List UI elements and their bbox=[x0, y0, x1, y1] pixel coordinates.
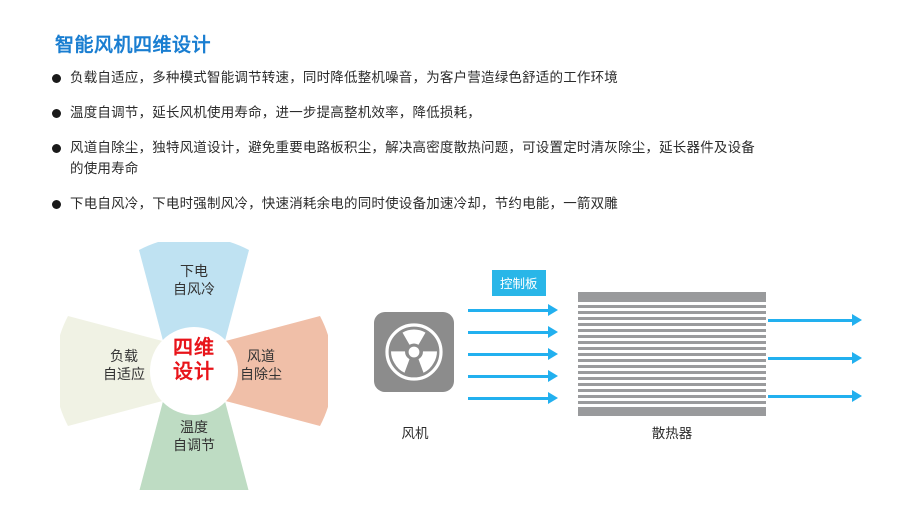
bullet-dot-icon bbox=[52, 74, 61, 83]
fan-icon bbox=[384, 322, 444, 382]
heatsink-fins bbox=[578, 299, 766, 409]
list-item: 风道自除尘，独特风道设计，避免重要电路板积尘，解决高密度散热问题，可设置定时清灰… bbox=[52, 138, 882, 180]
arrow-head-icon bbox=[852, 314, 862, 326]
list-item-line-continued: 的使用寿命 bbox=[70, 159, 755, 180]
arrow-line bbox=[468, 331, 550, 334]
list-item-line: 下电自风冷，下电时强制风冷，快速消耗余电的同时使设备加速冷却，节约电能，一箭双雕 bbox=[70, 196, 618, 211]
arrow-head-icon bbox=[548, 348, 558, 360]
arrow-head-icon bbox=[548, 326, 558, 338]
fan-label: 风机 bbox=[368, 422, 462, 442]
arrow-line bbox=[768, 395, 854, 398]
four-dimension-petal-diagram: 下电 自风冷 风道 自除尘 温度 自调节 负载 自适应 四维 设计 bbox=[60, 242, 328, 490]
list-item-line: 风道自除尘，独特风道设计，避免重要电路板积尘，解决高密度散热问题，可设置定时清灰… bbox=[70, 140, 755, 155]
list-item-text: 下电自风冷，下电时强制风冷，快速消耗余电的同时使设备加速冷却，节约电能，一箭双雕 bbox=[70, 194, 618, 215]
heatsink-block bbox=[578, 292, 766, 416]
arrow-head-icon bbox=[852, 390, 862, 402]
arrow-line bbox=[468, 353, 550, 356]
petal-svg bbox=[60, 242, 328, 490]
list-item: 下电自风冷，下电时强制风冷，快速消耗余电的同时使设备加速冷却，节约电能，一箭双雕 bbox=[52, 194, 882, 215]
list-item-text: 风道自除尘，独特风道设计，避免重要电路板积尘，解决高密度散热问题，可设置定时清灰… bbox=[70, 138, 755, 180]
arrow-head-icon bbox=[548, 370, 558, 382]
arrow-head-icon bbox=[852, 352, 862, 364]
airflow-cooling-diagram: 风机 控制板 散热器 bbox=[368, 270, 888, 470]
arrow-line bbox=[468, 375, 550, 378]
arrow-line bbox=[768, 319, 854, 322]
list-item: 温度自调节，延长风机使用寿命，进一步提高整机效率，降低损耗， bbox=[52, 103, 882, 124]
arrow-head-icon bbox=[548, 304, 558, 316]
control-board-badge: 控制板 bbox=[492, 270, 546, 296]
list-item-text: 负载自适应，多种模式智能调节转速，同时降低整机噪音，为客户营造绿色舒适的工作环境 bbox=[70, 68, 618, 89]
list-item-line: 负载自适应，多种模式智能调节转速，同时降低整机噪音，为客户营造绿色舒适的工作环境 bbox=[70, 70, 618, 85]
bullet-dot-icon bbox=[52, 200, 61, 209]
arrow-head-icon bbox=[548, 392, 558, 404]
feature-bullet-list: 负载自适应，多种模式智能调节转速，同时降低整机噪音，为客户营造绿色舒适的工作环境… bbox=[52, 68, 882, 229]
bullet-dot-icon bbox=[52, 109, 61, 118]
arrow-line bbox=[468, 397, 550, 400]
heatsink-label: 散热器 bbox=[578, 422, 766, 442]
page-title: 智能风机四维设计 bbox=[55, 30, 211, 57]
heatsink-top-cap bbox=[578, 292, 766, 299]
fan-block bbox=[374, 312, 454, 392]
list-item-text: 温度自调节，延长风机使用寿命，进一步提高整机效率，降低损耗， bbox=[70, 103, 481, 124]
arrow-line bbox=[768, 357, 854, 360]
petal-center-circle bbox=[150, 327, 238, 415]
heatsink-bottom-cap bbox=[578, 409, 766, 416]
bullet-dot-icon bbox=[52, 144, 61, 153]
list-item-line: 温度自调节，延长风机使用寿命，进一步提高整机效率，降低损耗， bbox=[70, 105, 481, 120]
arrow-line bbox=[468, 309, 550, 312]
list-item: 负载自适应，多种模式智能调节转速，同时降低整机噪音，为客户营造绿色舒适的工作环境 bbox=[52, 68, 882, 89]
